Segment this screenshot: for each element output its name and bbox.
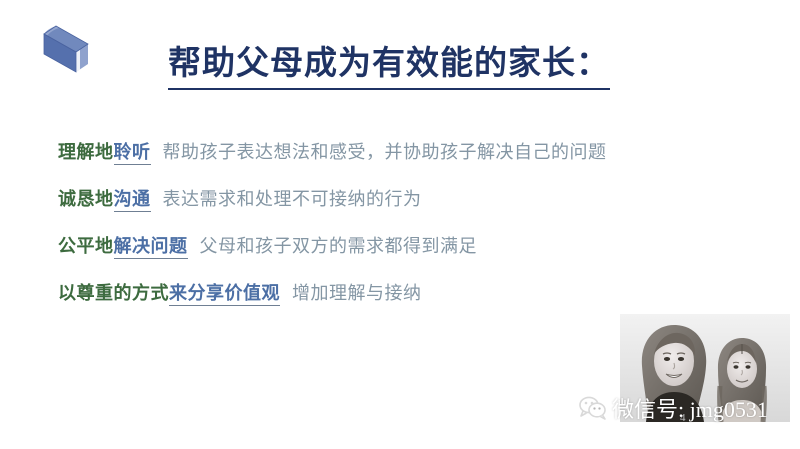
bullet-item-4: 以尊重的方式来分享价值观增加理解与接纳 (58, 284, 758, 303)
page-number: 4 (680, 412, 686, 424)
bullet-key-1: 聆听 (114, 142, 151, 165)
bullet-lead-1: 理解地 (58, 142, 114, 162)
bullet-desc-2: 表达需求和处理不可接纳的行为 (163, 189, 422, 209)
bullet-item-1: 理解地聆听帮助孩子表达想法和感受，并协助孩子解决自己的问题 (58, 143, 758, 162)
bullet-lead-3: 公平地 (58, 236, 114, 256)
bullet-key-4: 来分享价值观 (169, 283, 280, 306)
bullet-item-3: 公平地解决问题父母和孩子双方的需求都得到满足 (58, 237, 758, 256)
wechat-icon (578, 395, 608, 421)
wechat-watermark: 微信号: jmg0531 (578, 392, 768, 424)
bullet-list: 理解地聆听帮助孩子表达想法和感受，并协助孩子解决自己的问题 诚恳地沟通表达需求和… (58, 143, 758, 331)
page-title: 帮助父母成为有效能的家长： (168, 44, 610, 90)
bullet-item-2: 诚恳地沟通表达需求和处理不可接纳的行为 (58, 190, 758, 209)
bullet-desc-3: 父母和孩子双方的需求都得到满足 (200, 236, 478, 256)
wechat-id-text: 微信号: jmg0531 (612, 392, 768, 424)
bullet-key-3: 解决问题 (114, 236, 188, 259)
bullet-desc-1: 帮助孩子表达想法和感受，并协助孩子解决自己的问题 (163, 142, 607, 162)
bullet-key-2: 沟通 (114, 189, 151, 212)
slide-canvas: 帮助父母成为有效能的家长： 理解地聆听帮助孩子表达想法和感受，并协助孩子解决自己… (0, 0, 800, 449)
bullet-lead-2: 诚恳地 (58, 189, 114, 209)
bullet-lead-4: 以尊重的方式 (58, 283, 169, 303)
bullet-desc-4: 增加理解与接纳 (292, 283, 422, 303)
book-icon (36, 20, 94, 78)
title-block: 帮助父母成为有效能的家长： (168, 44, 608, 90)
